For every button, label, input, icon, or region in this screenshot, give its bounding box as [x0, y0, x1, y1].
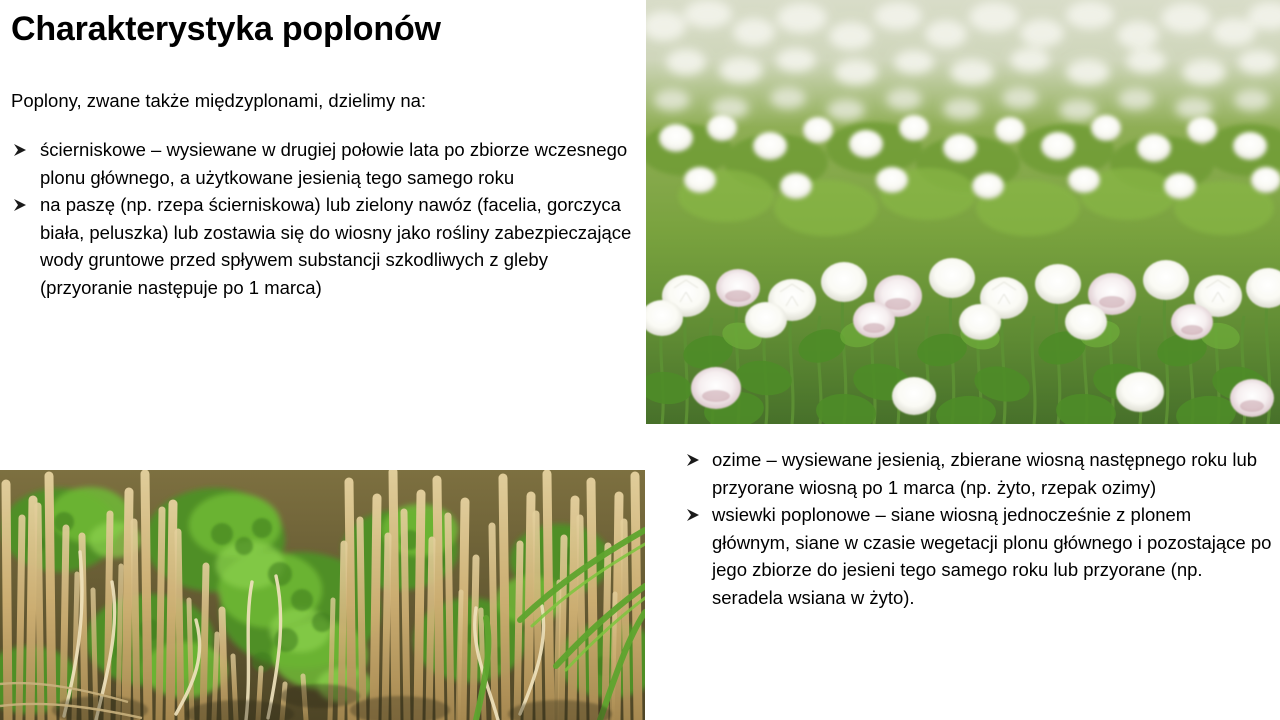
- list-item: wsiewki poplonowe – siane wiosną jednocz…: [684, 501, 1274, 611]
- clover-field-photo: [646, 0, 1280, 424]
- list-item: ozime – wysiewane jesienią, zbierane wio…: [684, 446, 1274, 501]
- right-bullet-list: ozime – wysiewane jesienią, zbierane wio…: [684, 446, 1274, 611]
- arrow-head-bullet-icon: [686, 501, 706, 521]
- list-item-label: ścierniskowe – wysiewane w drugiej połow…: [40, 139, 627, 188]
- list-item: na paszę (np. rzepa ścierniskowa) lub zi…: [11, 191, 636, 301]
- arrow-head-bullet-icon: [13, 136, 33, 156]
- slide-canvas: Charakterystyka poplonów Poplony, zwane …: [0, 0, 1280, 720]
- list-item: ścierniskowe – wysiewane w drugiej połow…: [11, 136, 636, 191]
- left-bullet-list: ścierniskowe – wysiewane w drugiej połow…: [11, 136, 636, 301]
- arrow-head-bullet-icon: [686, 446, 706, 466]
- lead-paragraph: Poplony, zwane także międzyplonami, dzie…: [11, 88, 636, 114]
- arrow-head-bullet-icon: [13, 191, 33, 211]
- left-text-column: Charakterystyka poplonów Poplony, zwane …: [11, 8, 636, 301]
- list-item-label: wsiewki poplonowe – siane wiosną jednocz…: [712, 504, 1271, 608]
- list-item-label: na paszę (np. rzepa ścierniskowa) lub zi…: [40, 194, 631, 298]
- right-text-column: ozime – wysiewane jesienią, zbierane wio…: [684, 446, 1274, 611]
- list-item-label: ozime – wysiewane jesienią, zbierane wio…: [712, 449, 1257, 498]
- stubble-undersown-photo: [0, 470, 645, 720]
- page-title: Charakterystyka poplonów: [11, 8, 636, 50]
